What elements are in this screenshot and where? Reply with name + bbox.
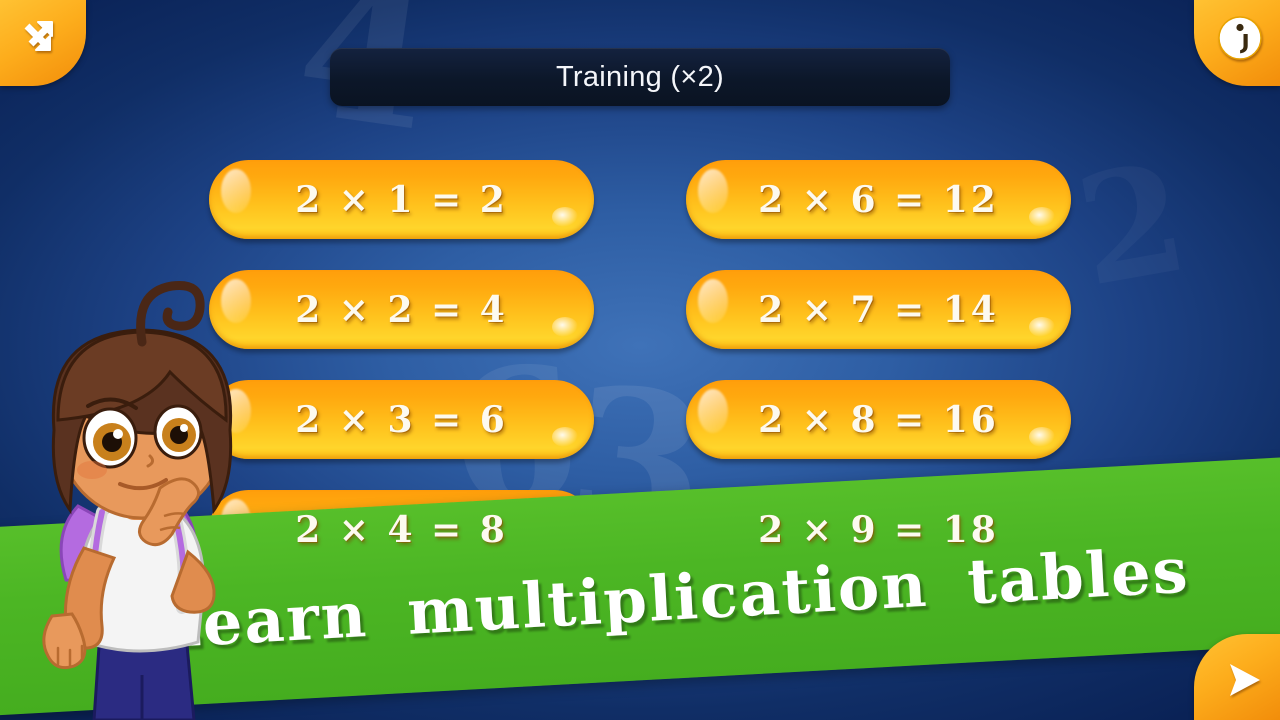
equation-row: 2 × 1 = 2 2 × 6 = 12 xyxy=(0,160,1280,239)
equation-label: 2 × 9 = 18 xyxy=(758,509,999,551)
equation-row: 2 × 2 = 4 2 × 7 = 14 xyxy=(0,270,1280,349)
equation-label: 2 × 6 = 12 xyxy=(758,179,999,221)
equation-button[interactable]: 2 × 8 = 16 xyxy=(686,380,1071,459)
equation-label: 2 × 8 = 16 xyxy=(758,399,999,441)
equation-button[interactable]: 2 × 6 = 12 xyxy=(686,160,1071,239)
play-icon xyxy=(1208,646,1266,709)
equation-label: 2 × 7 = 14 xyxy=(758,289,999,331)
equation-row: 2 × 3 = 6 2 × 8 = 16 xyxy=(0,380,1280,459)
info-button[interactable] xyxy=(1194,0,1280,86)
equation-button[interactable]: 2 × 3 = 6 xyxy=(209,380,594,459)
game-screen: 4 6 3 2 Training xyxy=(0,0,1280,720)
page-title-bar: Training (×2) xyxy=(330,48,950,106)
equation-label: 2 × 3 = 6 xyxy=(295,399,508,441)
equation-label: 2 × 2 = 4 xyxy=(295,289,508,331)
equation-button[interactable]: 2 × 2 = 4 xyxy=(209,270,594,349)
equation-label: 2 × 4 = 8 xyxy=(295,509,508,551)
page-title: Training (×2) xyxy=(556,61,724,94)
shuffle-icon xyxy=(24,22,62,65)
info-icon xyxy=(1214,18,1260,69)
shuffle-button[interactable] xyxy=(0,0,86,86)
equation-button[interactable]: 2 × 1 = 2 xyxy=(209,160,594,239)
equation-button[interactable]: 2 × 7 = 14 xyxy=(686,270,1071,349)
equation-label: 2 × 1 = 2 xyxy=(295,179,508,221)
promo-banner-text: Learn multiplication tables xyxy=(155,533,1191,662)
